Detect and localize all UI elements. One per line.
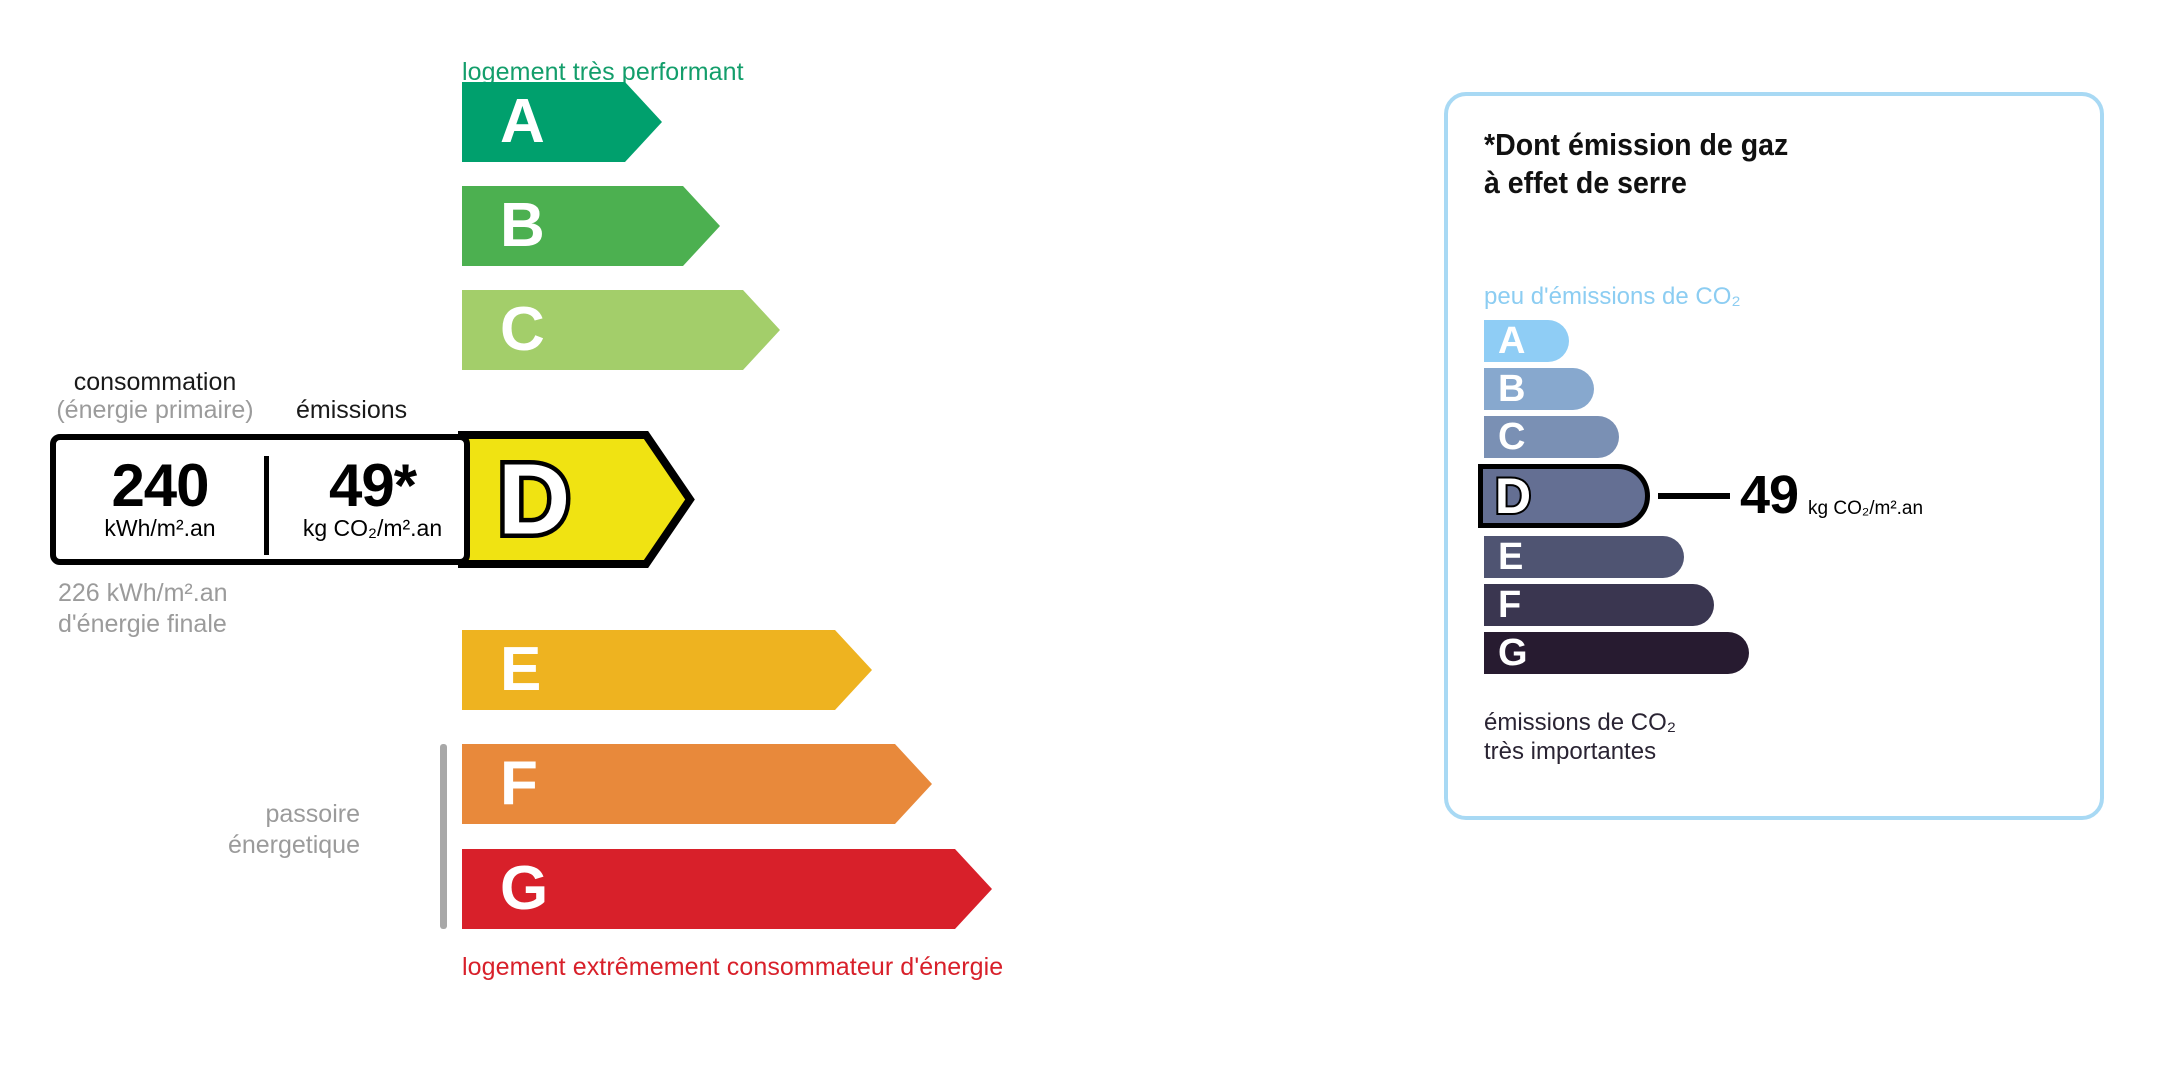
energy-band-c[interactable]: C — [462, 290, 780, 370]
consommation-label: consommation (énergie primaire) — [46, 368, 264, 424]
passoire-line-1: passoire — [130, 799, 360, 830]
co2-top-caption: peu d'émissions de CO₂ — [1484, 283, 1741, 311]
emissions-label: émissions — [296, 396, 407, 424]
energy-band-g-letter: G — [500, 858, 548, 920]
energie-finale-line-1: 226 kWh/m².an — [58, 578, 228, 609]
co2-bar-e-letter: E — [1498, 538, 1523, 576]
passoire-energetique-label: passoire énergetique — [130, 799, 360, 860]
co2-bar-a-letter: A — [1498, 322, 1525, 360]
consommation-label-sub: (énergie primaire) — [46, 396, 264, 424]
energy-band-c-letter: C — [500, 299, 545, 361]
energy-band-f[interactable]: F — [462, 744, 932, 824]
co2-bar-g[interactable]: G — [1484, 632, 1749, 674]
co2-title-line-1: *Dont émission de gaz — [1484, 126, 1788, 164]
energy-bottom-caption: logement extrêmement consommateur d'éner… — [462, 953, 1003, 982]
energy-band-f-letter: F — [500, 753, 538, 815]
co2-emissions-panel: *Dont émission de gaz à effet de serre p… — [1444, 92, 2104, 820]
co2-bar-b[interactable]: B — [1484, 368, 1594, 410]
emissions-value-cell: 49* kg CO₂/m².an — [269, 454, 476, 543]
passoire-energetique-bar — [440, 744, 447, 929]
energy-band-e-letter: E — [500, 639, 541, 701]
co2-bar-d-selected[interactable]: D — [1478, 464, 1650, 528]
energy-performance-chart: logement très performant A B C D E — [0, 0, 1300, 1079]
energy-band-b-letter: B — [500, 195, 545, 257]
co2-bottom-caption-line-1: émissions de CO₂ — [1484, 708, 1676, 737]
co2-bar-e[interactable]: E — [1484, 536, 1684, 578]
co2-title-line-2: à effet de serre — [1484, 164, 1788, 202]
energy-band-g[interactable]: G — [462, 849, 992, 929]
co2-bar-f-letter: F — [1498, 586, 1521, 624]
passoire-line-2: énergetique — [130, 830, 360, 861]
co2-bottom-caption-line-2: très importantes — [1484, 737, 1676, 766]
emissions-value: 49* — [269, 454, 476, 517]
consumption-value: 240 — [56, 454, 264, 517]
energy-band-b[interactable]: B — [462, 186, 720, 266]
energy-band-a[interactable]: A — [462, 82, 662, 162]
co2-value-unit: kg CO₂/m².an — [1808, 499, 1923, 518]
co2-bar-g-letter: G — [1498, 634, 1528, 672]
co2-bar-a[interactable]: A — [1484, 320, 1569, 362]
energie-finale-footnote: 226 kWh/m².an d'énergie finale — [58, 578, 228, 639]
energie-finale-line-2: d'énergie finale — [58, 609, 228, 640]
co2-bar-f[interactable]: F — [1484, 584, 1714, 626]
consumption-value-cell: 240 kWh/m².an — [56, 454, 264, 543]
consommation-label-main: consommation — [46, 368, 264, 396]
energy-band-d-selected[interactable]: D — [458, 431, 694, 568]
consumption-value-box: 240 kWh/m².an 49* kg CO₂/m².an — [50, 434, 470, 565]
co2-panel-title: *Dont émission de gaz à effet de serre — [1484, 126, 1788, 202]
co2-bar-d-letter: D — [1495, 471, 1531, 521]
co2-bar-c-letter: C — [1498, 418, 1525, 456]
co2-bar-c[interactable]: C — [1484, 416, 1619, 458]
energy-band-a-letter: A — [500, 91, 545, 153]
energy-band-e[interactable]: E — [462, 630, 872, 710]
svg-text:D: D — [498, 444, 570, 556]
co2-bottom-caption: émissions de CO₂ très importantes — [1484, 708, 1676, 767]
emissions-unit: kg CO₂/m².an — [269, 515, 476, 543]
co2-value-leader-line — [1658, 493, 1730, 499]
co2-value: 49 — [1740, 468, 1798, 522]
co2-bar-b-letter: B — [1498, 370, 1525, 408]
consumption-unit: kWh/m².an — [56, 515, 264, 543]
